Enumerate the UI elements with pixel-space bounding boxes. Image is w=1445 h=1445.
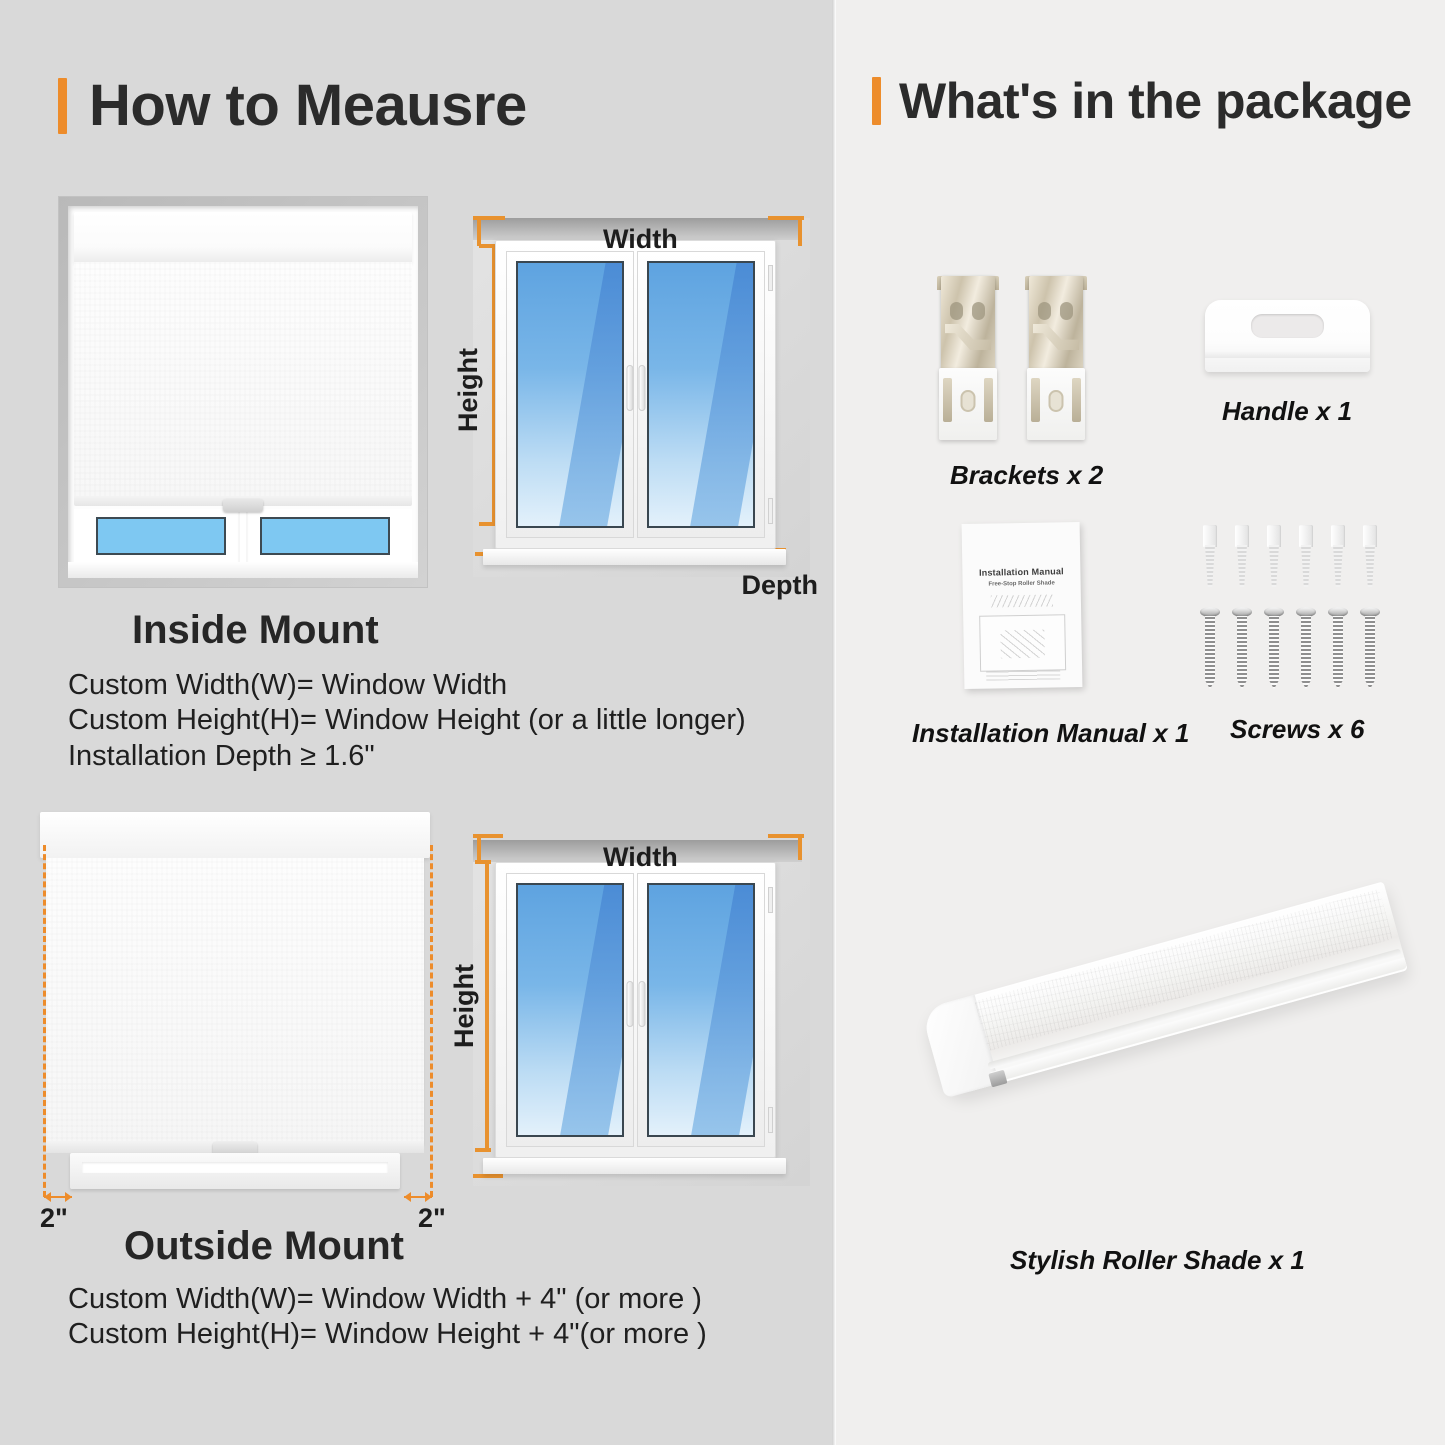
inside-mount-lines: Custom Width(W)= Window Width Custom Hei… — [68, 668, 746, 774]
brackets-image — [935, 276, 1115, 446]
window-hinge-bottom — [768, 1107, 773, 1133]
inside-mount-title: Inside Mount — [132, 608, 379, 653]
how-to-measure-heading: How to Meausre — [58, 72, 527, 139]
window-glass-right — [647, 261, 755, 528]
window-handles — [626, 365, 645, 411]
manual-cover-subtitle: Free-Stop Roller Shade — [963, 580, 1081, 588]
shade-valance — [40, 812, 430, 858]
window-sill — [483, 1158, 786, 1174]
height-label: Height — [449, 964, 480, 1048]
shade-fabric — [74, 262, 412, 498]
roller-shade-metal-tip — [988, 1070, 1007, 1088]
screw — [1264, 607, 1284, 689]
shade-pull-handle — [223, 499, 263, 512]
measure-mark-right-top — [798, 834, 802, 860]
handle-label: Handle x 1 — [1222, 396, 1352, 427]
bracket-plate — [939, 368, 997, 440]
handle-grip-cutout — [1251, 314, 1324, 338]
outside-mount-line-1: Custom Width(W)= Window Width + 4" (or m… — [68, 1282, 707, 1317]
wall-anchor — [1232, 525, 1252, 587]
window-frame-behind — [70, 1153, 400, 1189]
heading-text: What's in the package — [899, 72, 1412, 130]
bracket-rail-right — [1072, 378, 1081, 422]
handle-image — [1205, 300, 1370, 372]
bracket-slot-a — [950, 302, 963, 320]
window-sash-right — [637, 873, 765, 1147]
handle-lip — [1205, 352, 1370, 358]
width-label: Width — [603, 224, 678, 255]
window-sash-left — [506, 251, 634, 538]
installation-manual-image: Installation Manual Free-Stop Roller Sha… — [962, 522, 1083, 689]
measure-mark-left-top — [477, 834, 481, 860]
accent-bar-icon — [58, 78, 67, 134]
inside-mount-window-diagram: Width Height Depth — [455, 200, 810, 595]
width-label: Width — [603, 842, 678, 873]
shade-fabric — [46, 858, 424, 1145]
window-handles — [626, 981, 645, 1027]
screws-label: Screws x 6 — [1230, 714, 1364, 745]
window-sash-left — [506, 873, 634, 1147]
screw — [1360, 607, 1380, 689]
manual-cover-graphic — [991, 594, 1053, 607]
screw — [1232, 607, 1252, 689]
outside-mount-shade-illustration — [30, 812, 440, 1194]
overhang-label-right: 2" — [418, 1203, 446, 1234]
outside-mount-title: Outside Mount — [124, 1224, 404, 1269]
bracket-plate — [1027, 368, 1085, 440]
window-frame — [495, 862, 776, 1158]
wall-anchor-row — [1200, 525, 1380, 587]
bracket-rail-left — [943, 378, 952, 422]
wall-anchor — [1296, 525, 1316, 587]
roller-shade-image — [915, 890, 1435, 1210]
manual-cover-footer-text — [986, 669, 1060, 680]
roller-shade-valance — [921, 881, 1408, 1098]
window-hinge-top — [768, 265, 773, 291]
window-handle-right — [638, 981, 645, 1027]
overhang-guide-left — [43, 845, 46, 1197]
window-frame — [495, 240, 776, 549]
window-glass-right — [647, 883, 755, 1137]
bracket-slot-b — [972, 302, 985, 320]
roller-shade-label: Stylish Roller Shade x 1 — [1010, 1245, 1305, 1276]
inside-mount-line-1: Custom Width(W)= Window Width — [68, 668, 746, 703]
wall-anchor — [1200, 525, 1220, 587]
window-handle-left — [626, 981, 633, 1027]
heading-text: How to Meausre — [89, 72, 527, 139]
bracket-screw-hole — [1049, 390, 1064, 412]
installation-manual-label: Installation Manual x 1 — [912, 718, 1189, 749]
height-label: Height — [453, 348, 484, 432]
screw — [1200, 607, 1220, 689]
screw-row — [1200, 607, 1380, 689]
screw — [1328, 607, 1348, 689]
bracket-rail-left — [1031, 378, 1040, 422]
window-glass-left — [516, 261, 624, 528]
bracket-screw-hole — [961, 390, 976, 412]
infographic-page: How to Meausre What's in the package — [0, 0, 1445, 1445]
inside-mount-line-2: Custom Height(H)= Window Height (or a li… — [68, 703, 746, 738]
window-sill — [483, 549, 786, 565]
screws-image — [1200, 525, 1382, 695]
glass-pane-right — [260, 517, 390, 555]
height-measure-line — [485, 860, 489, 1150]
window-sash-right — [637, 251, 765, 538]
wall-anchor — [1264, 525, 1284, 587]
wall-anchor — [1328, 525, 1348, 587]
overhang-arrow-left — [44, 1196, 72, 1198]
screw — [1296, 607, 1316, 689]
accent-bar-icon — [872, 77, 881, 125]
glass-pane-left — [96, 517, 226, 555]
height-tick-top — [475, 860, 491, 864]
brackets-label: Brackets x 2 — [950, 460, 1103, 491]
outside-mount-window-diagram: Width Height — [455, 822, 810, 1204]
bracket-slot-a — [1038, 302, 1051, 320]
inside-mount-line-3: Installation Depth ≥ 1.6" — [68, 739, 746, 774]
measure-mark-bottom-left — [473, 1174, 503, 1178]
window-hinge-bottom — [768, 498, 773, 524]
bracket-slot-b — [1060, 302, 1073, 320]
manual-cover-diagram-box — [979, 614, 1066, 671]
depth-label: Depth — [742, 570, 819, 601]
window-sill — [68, 562, 418, 578]
measure-mark-left-top — [477, 216, 481, 246]
package-heading: What's in the package — [872, 72, 1412, 130]
inside-mount-shade-illustration — [58, 196, 428, 588]
window-glass-left — [516, 883, 624, 1137]
height-tick-bottom — [475, 1148, 491, 1152]
panel-divider — [832, 0, 836, 1445]
overhang-guide-right — [430, 845, 433, 1197]
window-handle-right — [638, 365, 645, 411]
window-handle-left — [626, 365, 633, 411]
shade-valance — [74, 212, 412, 263]
overhang-label-left: 2" — [40, 1203, 68, 1234]
overhang-arrow-right — [404, 1196, 432, 1198]
wall-anchor — [1360, 525, 1380, 587]
bracket-right — [1023, 276, 1089, 444]
outside-mount-lines: Custom Width(W)= Window Width + 4" (or m… — [68, 1282, 707, 1353]
manual-cover-title: Installation Manual — [962, 566, 1080, 578]
window-hinge-top — [768, 887, 773, 913]
outside-mount-line-2: Custom Height(H)= Window Height + 4"(or … — [68, 1317, 707, 1352]
measure-mark-right-top — [798, 216, 802, 246]
bracket-left — [935, 276, 1001, 444]
bracket-rail-right — [984, 378, 993, 422]
